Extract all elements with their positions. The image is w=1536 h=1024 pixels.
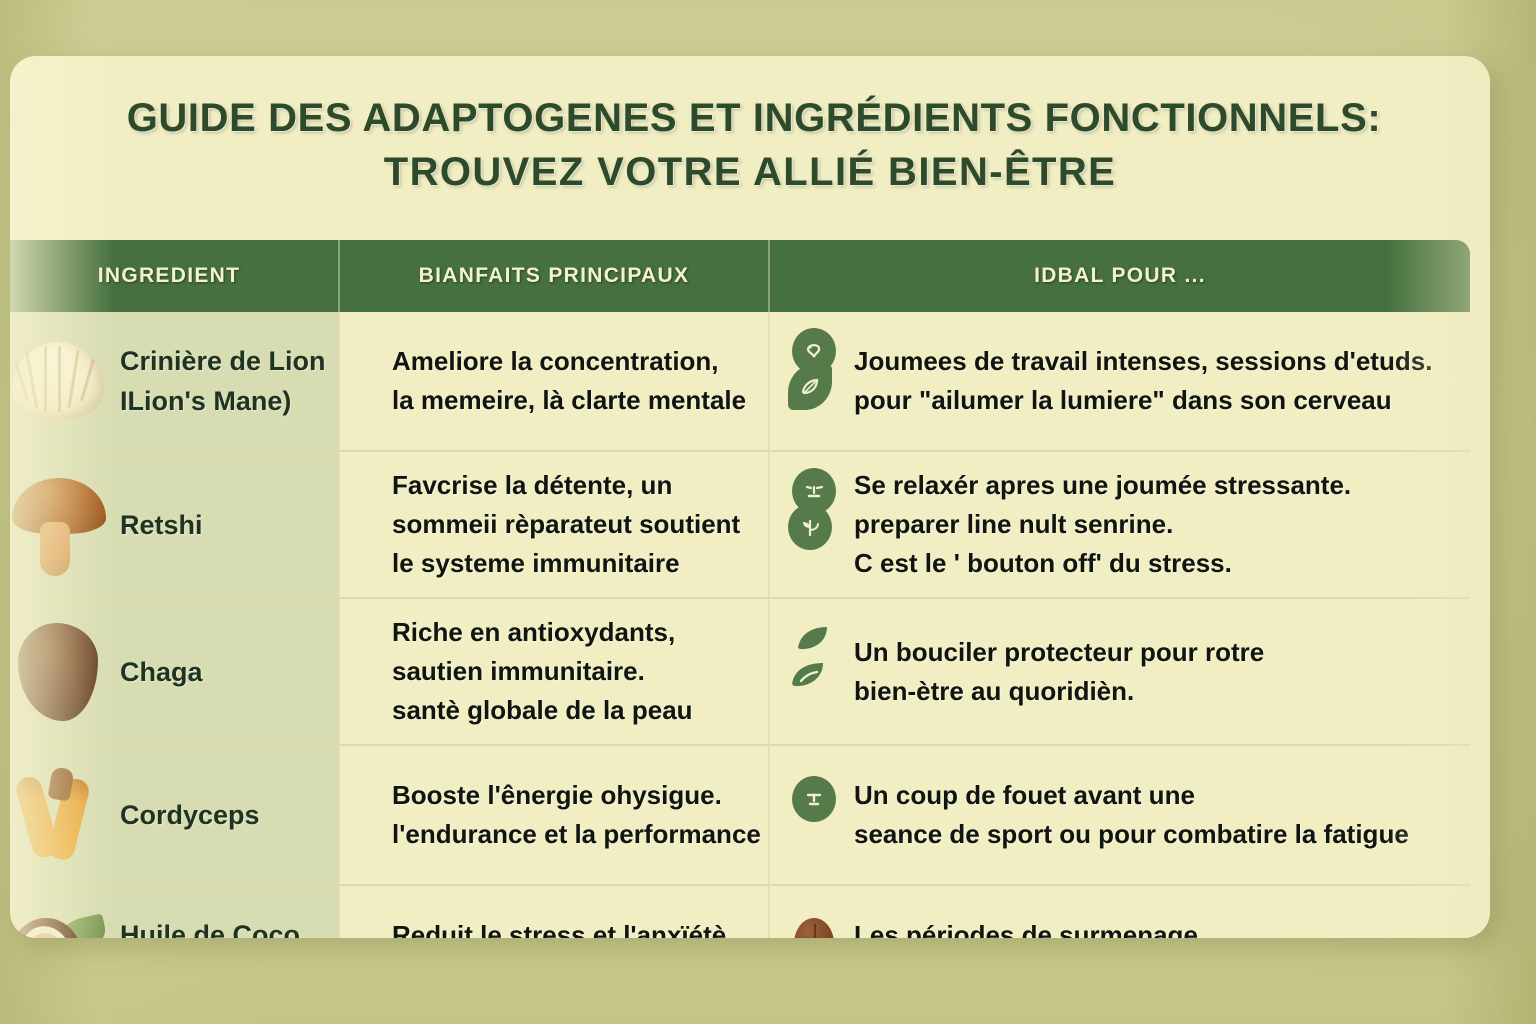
table-row: Cordyceps Booste l'ênergie ohysigue. l'e… bbox=[10, 746, 1470, 886]
benefits-cell: Booste l'ênergie ohysigue. l'endurance e… bbox=[340, 746, 770, 884]
ideal-for-line: pour "ailumer la lumiere" dans son cerve… bbox=[854, 381, 1432, 420]
poster-page: GUIDE DES ADAPTOGENES ET INGRÉDIENTS FON… bbox=[0, 0, 1536, 1024]
table-row: Chaga Riche en antioxydants, sautien imm… bbox=[10, 599, 1470, 746]
column-header-ingredient-label: INGREDIENT bbox=[98, 264, 241, 288]
badge-group bbox=[786, 326, 848, 436]
ingredient-name: Huile de Coco MCT bbox=[120, 915, 300, 938]
ideal-for-cell: Se relaxér apres une joumée stressante. … bbox=[770, 452, 1470, 597]
ingredient-cell: Chaga bbox=[10, 599, 340, 744]
ingredient-cell: Cordyceps bbox=[10, 746, 340, 884]
ideal-for-line: Un bouciler protecteur pour rotre bbox=[854, 633, 1264, 672]
ingredient-name-line: Chaga bbox=[120, 652, 203, 692]
ideal-for-line: C est le ' bouton off' du stress. bbox=[854, 544, 1351, 583]
benefits-text: Favcrise la détente, un sommeii rèparate… bbox=[392, 466, 740, 583]
ideal-for-cell: Un coup de fouet avant une seance de spo… bbox=[770, 746, 1470, 884]
ideal-for-line: Joumees de travail intenses, sessions d'… bbox=[854, 342, 1432, 381]
ingredients-table: INGREDIENT BIANFAITS PRINCIPAUX IDBAL PO… bbox=[10, 240, 1470, 938]
benefits-cell: Riche en antioxydants, sautien immunitai… bbox=[340, 599, 770, 744]
ingredient-cell: Huile de Coco MCT bbox=[10, 886, 340, 938]
ideal-for-line: Un coup de fouet avant une bbox=[854, 776, 1409, 815]
benefits-line: l'endurance et la performance bbox=[392, 815, 761, 854]
ingredient-name-line: Huile de Coco bbox=[120, 915, 300, 938]
ingredient-cell: Crinière de Lion ILion's Mane) bbox=[10, 312, 340, 450]
benefits-line: Ameliore la concentration, bbox=[392, 342, 746, 381]
badge-group bbox=[786, 613, 848, 730]
table-row: Huile de Coco MCT Reduit le stress et l'… bbox=[10, 886, 1470, 938]
benefits-text: Riche en antioxydants, sautien immunitai… bbox=[392, 613, 693, 730]
benefits-line: la memeire, là clarte mentale bbox=[392, 381, 746, 420]
benefits-text: Booste l'ênergie ohysigue. l'endurance e… bbox=[392, 776, 761, 854]
ingredient-name: Cordyceps bbox=[120, 795, 260, 835]
ingredient-name-line: ILion's Mane) bbox=[120, 381, 326, 421]
ingredient-name: Crinière de Lion ILion's Mane) bbox=[120, 341, 326, 421]
ideal-for-text: Un bouciler protecteur pour rotre bien-è… bbox=[854, 633, 1264, 711]
leaf-badge-icon bbox=[788, 364, 832, 410]
reishi-mushroom-icon bbox=[10, 470, 114, 580]
benefits-line: Booste l'ênergie ohysigue. bbox=[392, 776, 761, 815]
title-line-1: GUIDE DES ADAPTOGENES ET INGRÉDIENTS FON… bbox=[10, 92, 1490, 144]
content-card: GUIDE DES ADAPTOGENES ET INGRÉDIENTS FON… bbox=[10, 56, 1490, 938]
ideal-for-line: seance de sport ou pour combatire la fat… bbox=[854, 815, 1409, 854]
table-header-row: INGREDIENT BIANFAITS PRINCIPAUX IDBAL PO… bbox=[10, 240, 1470, 312]
benefits-cell: Favcrise la détente, un sommeii rèparate… bbox=[340, 452, 770, 597]
benefits-line: sautien immunitaire. bbox=[392, 652, 693, 691]
benefits-line: Favcrise la détente, un bbox=[392, 466, 740, 505]
badge-group bbox=[786, 760, 848, 870]
ingredient-name-line: Retshi bbox=[120, 505, 203, 545]
badge-group bbox=[786, 466, 848, 583]
benefits-line: santè globale de la peau bbox=[392, 691, 693, 730]
benefits-line: Riche en antioxydants, bbox=[392, 613, 693, 652]
lions-mane-mushroom-icon bbox=[10, 326, 114, 436]
plant-badge-icon bbox=[788, 504, 832, 550]
table-row: Crinière de Lion ILion's Mane) Ameliore … bbox=[10, 312, 1470, 452]
title-line-2: TROUVEZ VOTRE ALLIÉ BIEN-ÊTRE bbox=[10, 144, 1490, 200]
ingredient-cell: Retshi bbox=[10, 452, 340, 597]
ideal-for-text: Se relaxér apres une joumée stressante. … bbox=[854, 466, 1351, 583]
ingredient-name-line: Crinière de Lion bbox=[120, 341, 326, 381]
badge-group bbox=[786, 900, 848, 938]
ideal-for-text: Un coup de fouet avant une seance de spo… bbox=[854, 776, 1409, 854]
page-title: GUIDE DES ADAPTOGENES ET INGRÉDIENTS FON… bbox=[10, 92, 1490, 200]
leaf-hand-badge-icon bbox=[788, 651, 832, 697]
ideal-for-cell: Les périodes de surmenage. quand on on s… bbox=[770, 886, 1470, 938]
ideal-for-line: Les périodes de surmenage. bbox=[854, 916, 1329, 938]
benefits-cell: Ameliore la concentration, la memeire, l… bbox=[340, 312, 770, 450]
table-row: Retshi Favcrise la détente, un sommeii r… bbox=[10, 452, 1470, 599]
column-header-benefits: BIANFAITS PRINCIPAUX bbox=[340, 240, 770, 312]
benefits-line: Reduit le stress et l'anxïétè, bbox=[392, 916, 733, 938]
seed-badge-icon bbox=[794, 918, 834, 938]
chaga-mushroom-icon bbox=[10, 617, 114, 727]
ideal-for-line: Se relaxér apres une joumée stressante. bbox=[854, 466, 1351, 505]
column-header-ideal-for: IDBAL POUR ... bbox=[770, 240, 1470, 312]
ingredient-name: Chaga bbox=[120, 652, 203, 692]
ingredient-name: Retshi bbox=[120, 505, 203, 545]
cordyceps-icon bbox=[10, 760, 114, 870]
ideal-for-text: Joumees de travail intenses, sessions d'… bbox=[854, 342, 1432, 420]
column-header-ideal-for-label: IDBAL POUR ... bbox=[1034, 264, 1206, 288]
benefits-text: Ameliore la concentration, la memeire, l… bbox=[392, 342, 746, 420]
coconut-icon bbox=[10, 900, 114, 938]
ingredient-name-line: Cordyceps bbox=[120, 795, 260, 835]
ideal-for-text: Les périodes de surmenage. quand on on s… bbox=[854, 916, 1329, 938]
benefits-cell: Reduit le stress et l'anxïétè, équiilbre… bbox=[340, 886, 770, 938]
benefits-text: Reduit le stress et l'anxïétè, équiilbre… bbox=[392, 916, 733, 938]
ideal-for-cell: Un bouciler protecteur pour rotre bien-è… bbox=[770, 599, 1470, 744]
ideal-for-cell: Joumees de travail intenses, sessions d'… bbox=[770, 312, 1470, 450]
benefits-line: le systeme immunitaire bbox=[392, 544, 740, 583]
ideal-for-line: preparer line nult senrine. bbox=[854, 505, 1351, 544]
face-badge-icon bbox=[792, 776, 836, 822]
column-header-ingredient: INGREDIENT bbox=[10, 240, 340, 312]
ideal-for-line: bien-ètre au quoridièn. bbox=[854, 672, 1264, 711]
benefits-line: sommeii rèparateut soutient bbox=[392, 505, 740, 544]
column-header-benefits-label: BIANFAITS PRINCIPAUX bbox=[419, 264, 690, 288]
